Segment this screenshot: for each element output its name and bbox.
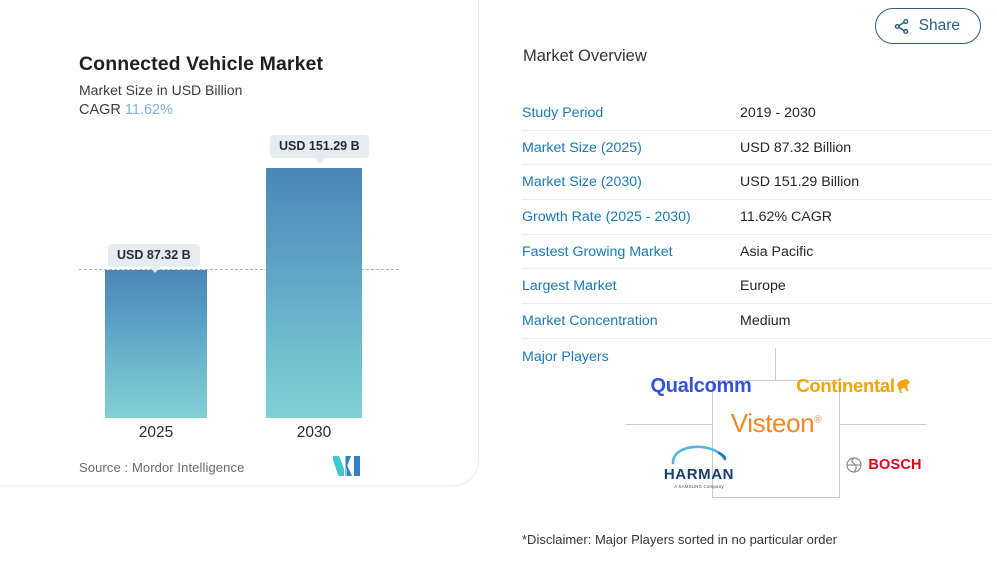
harman-subtitle: A SAMSUNG Company: [674, 484, 724, 489]
market-overview-table: Study Period 2019 - 2030 Market Size (20…: [522, 96, 992, 375]
row-value: USD 87.32 Billion: [740, 140, 851, 156]
table-row: Market Size (2030) USD 151.29 Billion: [522, 165, 992, 200]
visteon-wordmark: Visteon®: [731, 408, 821, 439]
x-tick-2030: 2030: [266, 424, 362, 442]
bosch-wordmark: BOSCH: [868, 457, 921, 473]
market-overview-panel: Market Overview Study Period 2019 - 2030…: [522, 0, 997, 570]
chart-card-inner: Connected Vehicle Market Market Size in …: [1, 1, 480, 487]
row-value: Asia Pacific: [740, 244, 813, 260]
table-row: Study Period 2019 - 2030: [522, 96, 992, 131]
table-row: Market Concentration Medium: [522, 304, 992, 339]
table-row: Growth Rate (2025 - 2030) 11.62% CAGR: [522, 200, 992, 235]
row-key: Study Period: [522, 105, 740, 121]
source-name: Mordor Intelligence: [132, 460, 244, 475]
bar-label-2030: USD 151.29 B: [270, 135, 369, 158]
row-key: Market Size (2030): [522, 174, 740, 190]
table-row: Fastest Growing Market Asia Pacific: [522, 235, 992, 270]
chart-card: Connected Vehicle Market Market Size in …: [0, 0, 479, 486]
source-line: Source : Mordor Intelligence: [79, 460, 244, 475]
player-logo-bosch: BOSCH: [838, 444, 930, 486]
row-key: Largest Market: [522, 278, 740, 294]
mordor-intelligence-logo: [333, 456, 363, 476]
bar-2030: [266, 168, 362, 418]
table-row: Largest Market Europe: [522, 269, 992, 304]
bar-chart-plot: USD 87.32 B USD 151.29 B 2025 2030: [1, 1, 480, 487]
continental-horse-icon: [895, 377, 911, 395]
row-key: Fastest Growing Market: [522, 244, 740, 260]
bosch-lockup: BOSCH: [846, 457, 921, 473]
table-row: Market Size (2025) USD 87.32 Billion: [522, 131, 992, 166]
player-logo-visteon: Visteon®: [712, 394, 840, 452]
row-value: 2019 - 2030: [740, 105, 816, 121]
row-key: Growth Rate (2025 - 2030): [522, 209, 740, 225]
harman-wordmark: HARMAN: [664, 466, 734, 483]
row-value: USD 151.29 Billion: [740, 174, 859, 190]
row-key: Market Concentration: [522, 313, 740, 329]
row-value: Medium: [740, 313, 790, 329]
row-value: 11.62% CAGR: [740, 209, 832, 225]
row-key: Market Size (2025): [522, 140, 740, 156]
bosch-armature-icon: [846, 457, 862, 473]
bar-2025: [105, 270, 207, 418]
source-label: Source :: [79, 460, 128, 475]
bar-label-2025: USD 87.32 B: [108, 244, 200, 267]
x-tick-2025: 2025: [105, 424, 207, 442]
major-players-grid: Qualcomm Continental HARMAN A: [626, 348, 926, 498]
row-value: Europe: [740, 278, 786, 294]
market-overview-page: Connected Vehicle Market Market Size in …: [0, 0, 997, 570]
market-overview-heading: Market Overview: [523, 47, 647, 66]
disclaimer-text: *Disclaimer: Major Players sorted in no …: [522, 532, 837, 547]
